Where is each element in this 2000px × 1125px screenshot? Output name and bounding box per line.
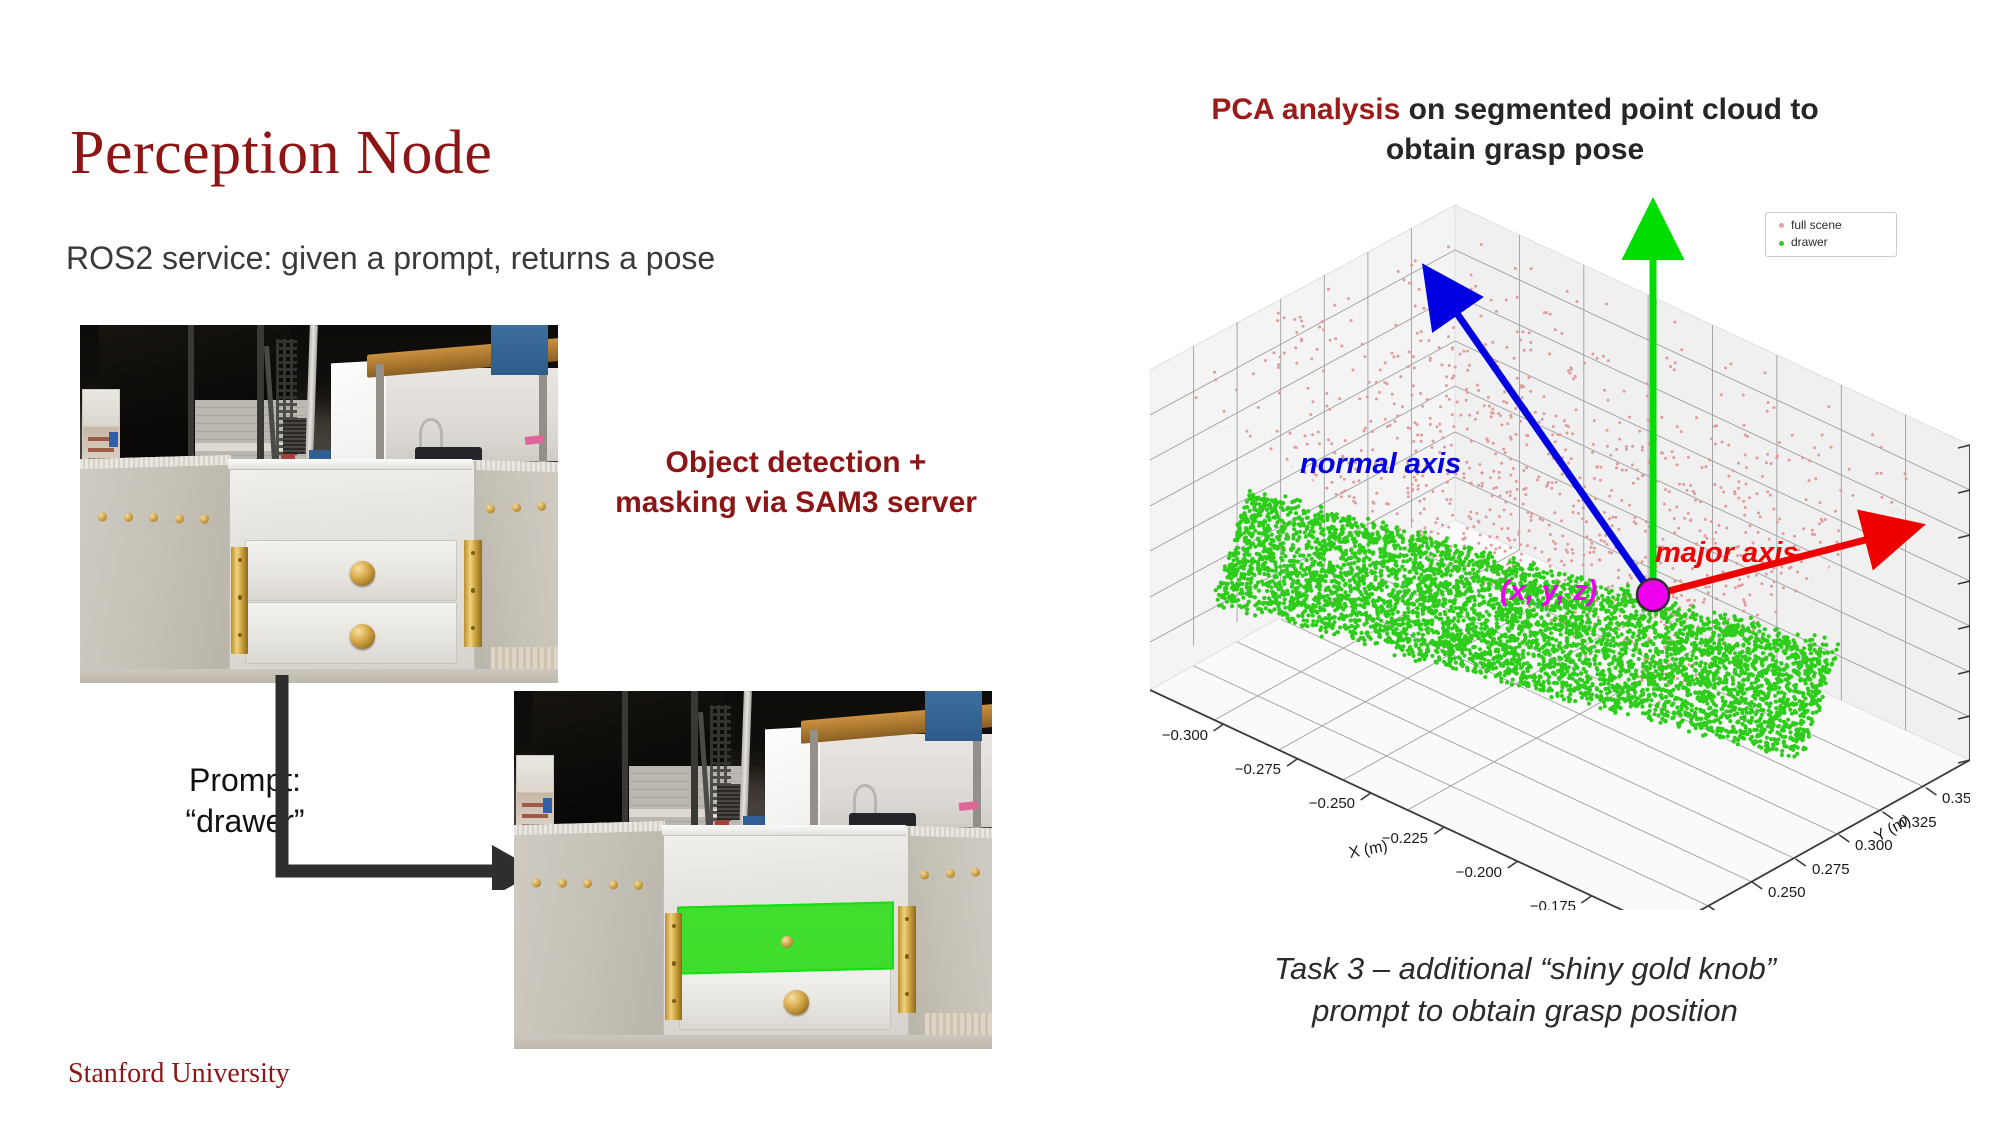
floor-strip xyxy=(514,1035,992,1049)
blue-sticker xyxy=(109,432,119,446)
table-leg-right xyxy=(539,364,547,464)
drawer-knob-bottom xyxy=(784,990,809,1015)
wire-basket xyxy=(717,784,741,820)
faucet xyxy=(419,418,442,450)
hinge-right xyxy=(898,906,915,1013)
pca-caption-rest: on segmented point cloud to obtain grasp… xyxy=(1386,93,1819,166)
legend-item-drawer: drawer xyxy=(1772,234,1890,251)
hinge-left xyxy=(665,913,682,1020)
slide-subtitle: ROS2 service: given a prompt, returns a … xyxy=(66,240,715,277)
task-caption-line1: Task 3 – additional “shiny gold knob” xyxy=(1274,951,1776,986)
drawer-knob-bottom xyxy=(350,624,375,649)
legend-dot-icon xyxy=(1779,223,1784,228)
table-leg-left xyxy=(376,364,384,464)
hinge-right xyxy=(464,540,481,647)
annotation-normal-axis: normal axis xyxy=(1300,448,1461,481)
drawer-knob-top xyxy=(782,935,794,947)
detection-caption-line2: masking via SAM3 server xyxy=(615,486,977,519)
flow-arrow-line xyxy=(282,675,498,871)
open-cabinet-door-left xyxy=(80,455,231,683)
x-axis-label: X (m) xyxy=(1348,838,1390,862)
y-axis-label: Y (m) xyxy=(1872,812,1914,846)
wire-basket xyxy=(283,418,307,454)
detection-caption-line1: Object detection + xyxy=(666,446,927,479)
legend-label: drawer xyxy=(1791,234,1828,251)
table-leg-left xyxy=(810,730,818,830)
table-leg-right xyxy=(973,730,981,830)
legend-dot-icon xyxy=(1779,241,1784,246)
footer-institution: Stanford University xyxy=(68,1058,290,1090)
blue-monitor xyxy=(925,691,982,741)
blue-monitor xyxy=(491,325,548,375)
drawer-knob-top xyxy=(350,561,375,586)
plot-legend: full scene drawer xyxy=(1765,212,1897,257)
cabinet-top-edge xyxy=(662,825,906,835)
detection-caption: Object detection + masking via SAM3 serv… xyxy=(586,443,1006,523)
blue-sticker xyxy=(543,798,553,812)
legend-item-full-scene: full scene xyxy=(1772,217,1890,234)
photo-masked-frame xyxy=(514,691,992,1049)
legend-label: full scene xyxy=(1791,217,1842,234)
task-caption: Task 3 – additional “shiny gold knob” pr… xyxy=(1175,948,1875,1031)
open-cabinet-door-left xyxy=(514,821,665,1049)
task-caption-line2: prompt to obtain grasp position xyxy=(1312,993,1738,1028)
photo-raw-frame xyxy=(80,325,558,683)
cabinet-top-edge xyxy=(228,459,472,469)
pca-caption: PCA analysis on segmented point cloud to… xyxy=(1195,90,1835,169)
pca-3d-scatter-plot: −0.325 −0.300 −0.275 −0.250 −0.225 −0.20… xyxy=(1150,170,1970,910)
scene-layers xyxy=(514,691,992,1049)
annotation-grasp-origin: (x, y, z) xyxy=(1500,575,1597,608)
page-title: Perception Node xyxy=(70,118,492,189)
scene-layers xyxy=(80,325,558,683)
flow-arrow xyxy=(270,675,540,890)
annotation-major-axis: major axis xyxy=(1655,537,1798,570)
grasp-origin-marker xyxy=(1637,579,1669,611)
hinge-left xyxy=(231,547,248,654)
segmentation-mask-drawer xyxy=(677,901,894,975)
faucet xyxy=(853,784,876,816)
pca-caption-highlight: PCA analysis xyxy=(1211,93,1400,126)
